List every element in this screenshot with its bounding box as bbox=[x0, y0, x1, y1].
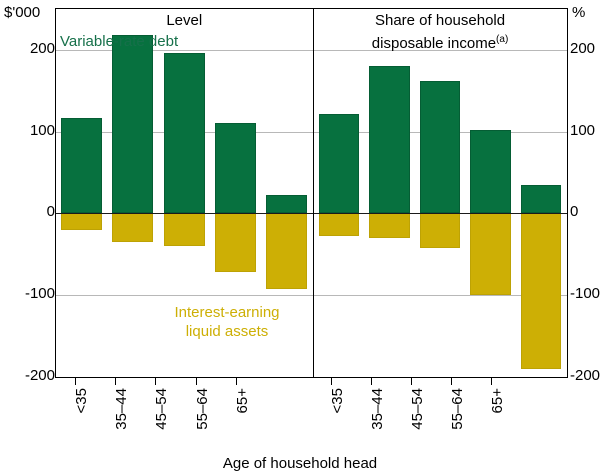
x-category-label-share-under35: <35 bbox=[329, 388, 346, 413]
x-tick-3 bbox=[196, 378, 197, 385]
x-category-label-share-55-64: 55–64 bbox=[449, 388, 466, 430]
bar-debt-under35 bbox=[61, 118, 102, 214]
bar-group-share-35-44 bbox=[364, 9, 414, 377]
x-tick-6 bbox=[371, 378, 372, 385]
bar-group-share-65plus bbox=[516, 9, 566, 377]
y-axis-unit-left: $'000 bbox=[4, 4, 40, 21]
x-category-label-under35: <35 bbox=[73, 388, 90, 413]
bar-chart: $'000 % 200 100 0 -100 -200 200 100 0 -1… bbox=[0, 0, 600, 475]
bar-debt-65plus bbox=[266, 195, 307, 213]
x-category-label-65plus: 65+ bbox=[234, 388, 251, 413]
bar-assets-under35 bbox=[61, 213, 102, 229]
y-tick-right-0: 0 bbox=[570, 204, 600, 219]
bar-share-debt-under35 bbox=[319, 114, 359, 214]
panel-divider bbox=[313, 9, 314, 377]
bar-group-share-55-64 bbox=[465, 9, 515, 377]
bar-assets-55-64 bbox=[215, 213, 256, 272]
bar-assets-35-44 bbox=[112, 213, 153, 242]
bar-share-debt-35-44 bbox=[369, 66, 409, 213]
bar-group-share-under35 bbox=[314, 9, 364, 377]
x-tick-8 bbox=[451, 378, 452, 385]
annotation-variable-rate-debt: Variable-rate debt bbox=[60, 32, 178, 51]
x-tick-5 bbox=[331, 378, 332, 385]
bar-share-debt-45-54 bbox=[420, 81, 460, 213]
x-category-label-share-35-44: 35–44 bbox=[369, 388, 386, 430]
y-tick-right-200: 200 bbox=[570, 41, 600, 56]
y-tick-left-200: 200 bbox=[0, 41, 55, 56]
bar-group-share-45-54 bbox=[415, 9, 465, 377]
panel-share: Share of household disposable income(a) bbox=[314, 9, 566, 377]
annotation-interest-earning-liquid-assets: Interest-earning liquid assets bbox=[152, 303, 302, 341]
bar-debt-45-54 bbox=[164, 53, 205, 213]
annotation-assets-line1: Interest-earning bbox=[174, 304, 279, 321]
x-axis-title: Age of household head bbox=[0, 455, 600, 472]
bar-assets-65plus bbox=[266, 213, 307, 288]
bar-share-debt-55-64 bbox=[470, 130, 510, 213]
y-tick-left-neg200: -200 bbox=[0, 368, 55, 383]
bar-group-under35 bbox=[56, 9, 107, 377]
bar-debt-55-64 bbox=[215, 123, 256, 214]
bar-share-assets-65plus bbox=[521, 213, 561, 368]
x-tick-4 bbox=[236, 378, 237, 385]
y-axis-unit-right: % bbox=[572, 4, 585, 21]
y-tick-right-neg200: -200 bbox=[570, 368, 600, 383]
bar-group-35-44 bbox=[107, 9, 158, 377]
y-tick-left-100: 100 bbox=[0, 123, 55, 138]
y-tick-left-neg100: -100 bbox=[0, 286, 55, 301]
x-tick-1 bbox=[115, 378, 116, 385]
x-tick-2 bbox=[155, 378, 156, 385]
x-category-label-35-44: 35–44 bbox=[113, 388, 130, 430]
y-tick-right-100: 100 bbox=[570, 123, 600, 138]
x-tick-9 bbox=[491, 378, 492, 385]
x-category-label-55-64: 55–64 bbox=[194, 388, 211, 430]
bar-share-assets-45-54 bbox=[420, 213, 460, 247]
y-tick-right-neg100: -100 bbox=[570, 286, 600, 301]
bar-debt-35-44 bbox=[112, 35, 153, 213]
bar-share-assets-55-64 bbox=[470, 213, 510, 295]
y-tick-left-0: 0 bbox=[0, 204, 55, 219]
x-tick-0 bbox=[75, 378, 76, 385]
x-category-label-share-65plus: 65+ bbox=[489, 388, 506, 413]
bar-share-debt-65plus bbox=[521, 185, 561, 214]
x-category-label-45-54: 45–54 bbox=[153, 388, 170, 430]
bar-share-assets-35-44 bbox=[369, 213, 409, 238]
zero-line bbox=[56, 213, 567, 215]
x-category-label-share-45-54: 45–54 bbox=[409, 388, 426, 430]
x-tick-7 bbox=[411, 378, 412, 385]
panel-share-bars bbox=[314, 9, 566, 377]
bar-assets-45-54 bbox=[164, 213, 205, 246]
bar-share-assets-under35 bbox=[319, 213, 359, 236]
annotation-assets-line2: liquid assets bbox=[186, 323, 269, 340]
plot-area: Level bbox=[55, 8, 568, 378]
